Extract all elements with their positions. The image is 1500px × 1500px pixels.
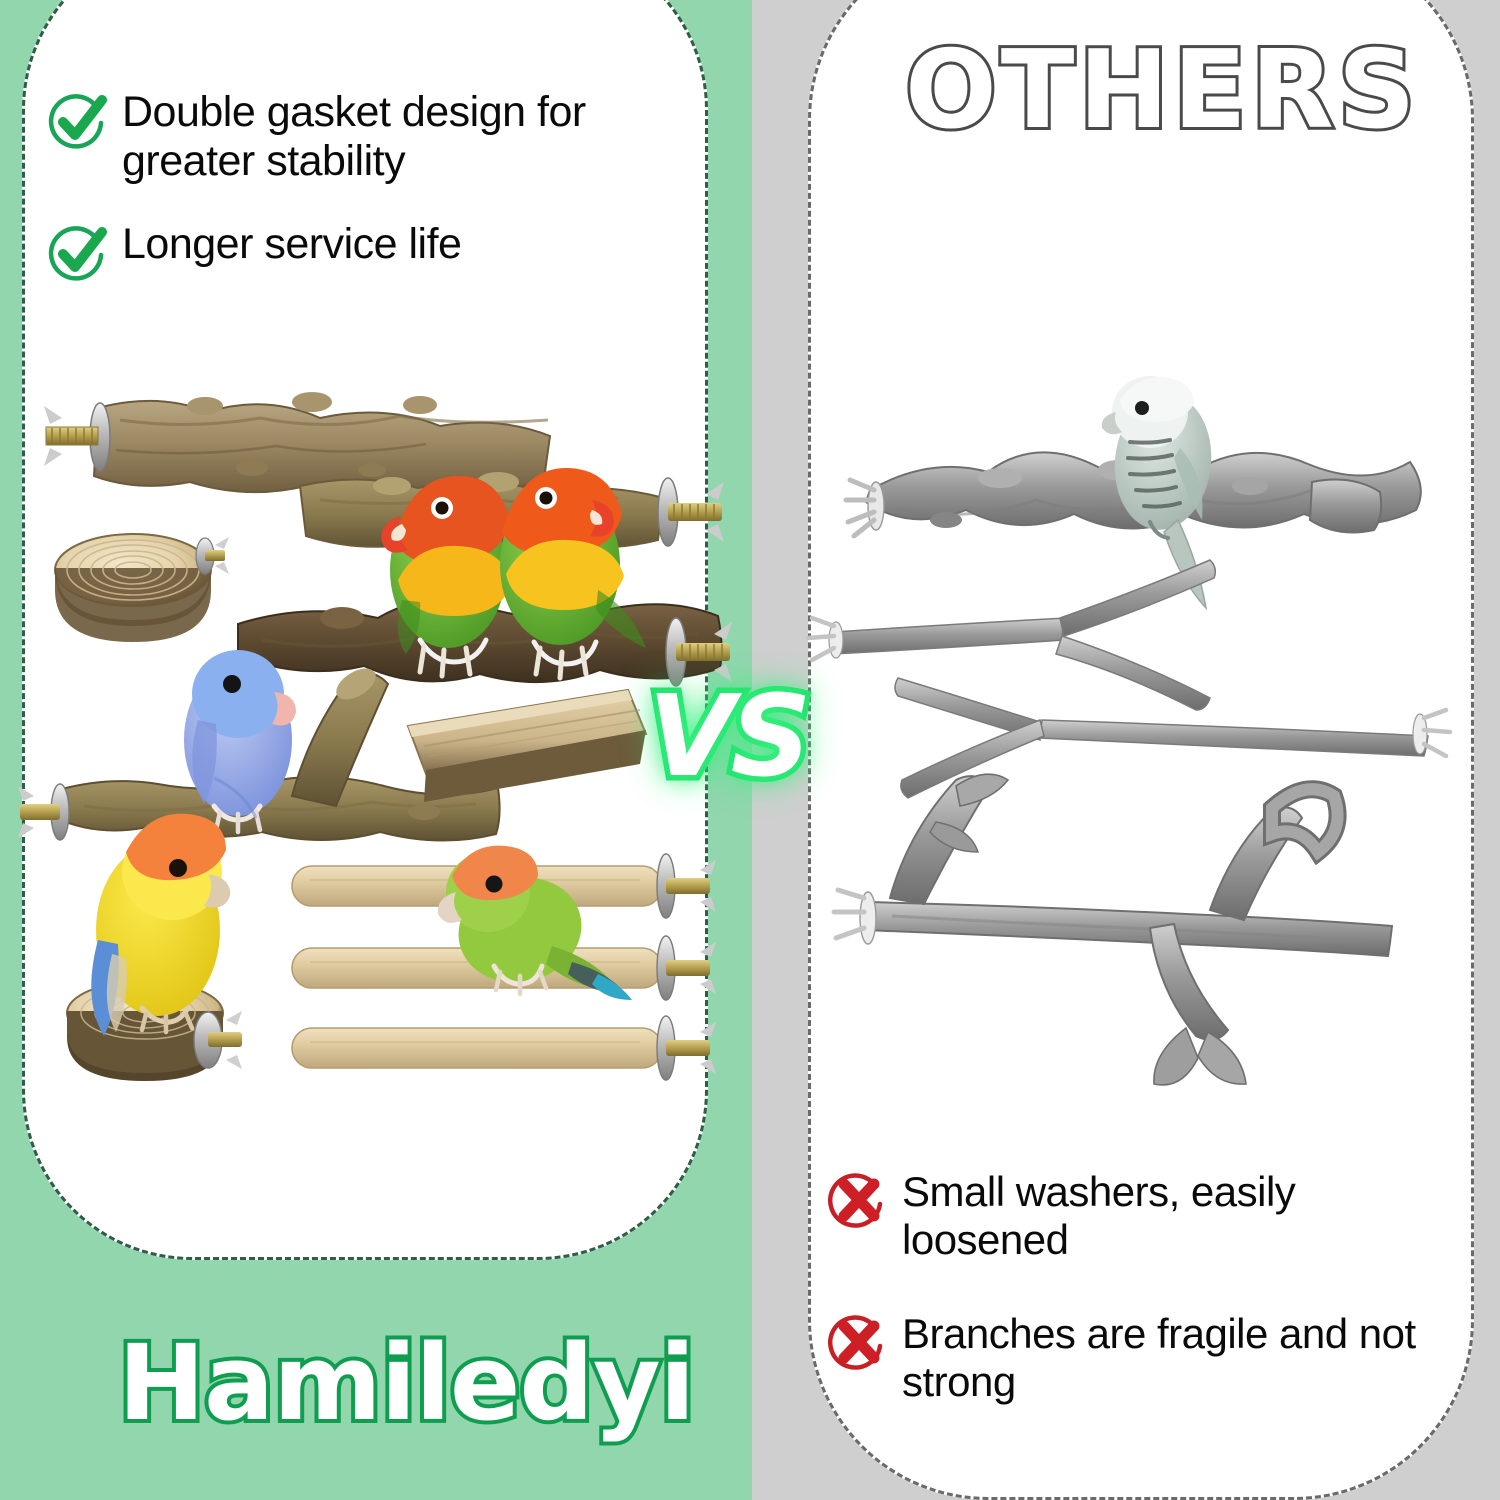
drawback-item-1: Branches are fragile and not strong [828, 1310, 1448, 1406]
comparison-infographic: Double gasket design for greater stabili… [0, 0, 1500, 1500]
drawback-item-0: Small washers, easily loosened [828, 1168, 1448, 1264]
others-heading: OTHERS [905, 28, 1420, 153]
benefit-item-0: Double gasket design for greater stabili… [48, 88, 688, 186]
drawback-label: Small washers, easily loosened [902, 1168, 1448, 1264]
benefit-label: Double gasket design for greater stabili… [122, 88, 688, 186]
benefit-item-1: Longer service life [48, 220, 688, 284]
check-circle-icon [48, 222, 110, 284]
benefit-label: Longer service life [122, 220, 461, 269]
x-circle-icon [828, 1312, 890, 1374]
right-drawback-list: Small washers, easily loosened Branches … [828, 1168, 1448, 1452]
check-circle-icon [48, 90, 110, 152]
drawback-label: Branches are fragile and not strong [902, 1310, 1448, 1406]
x-circle-icon [828, 1170, 890, 1232]
vs-badge: VS [648, 672, 807, 802]
left-benefit-list: Double gasket design for greater stabili… [48, 88, 688, 318]
brand-logo-hamiledyi: Hamiledyi [118, 1322, 694, 1444]
